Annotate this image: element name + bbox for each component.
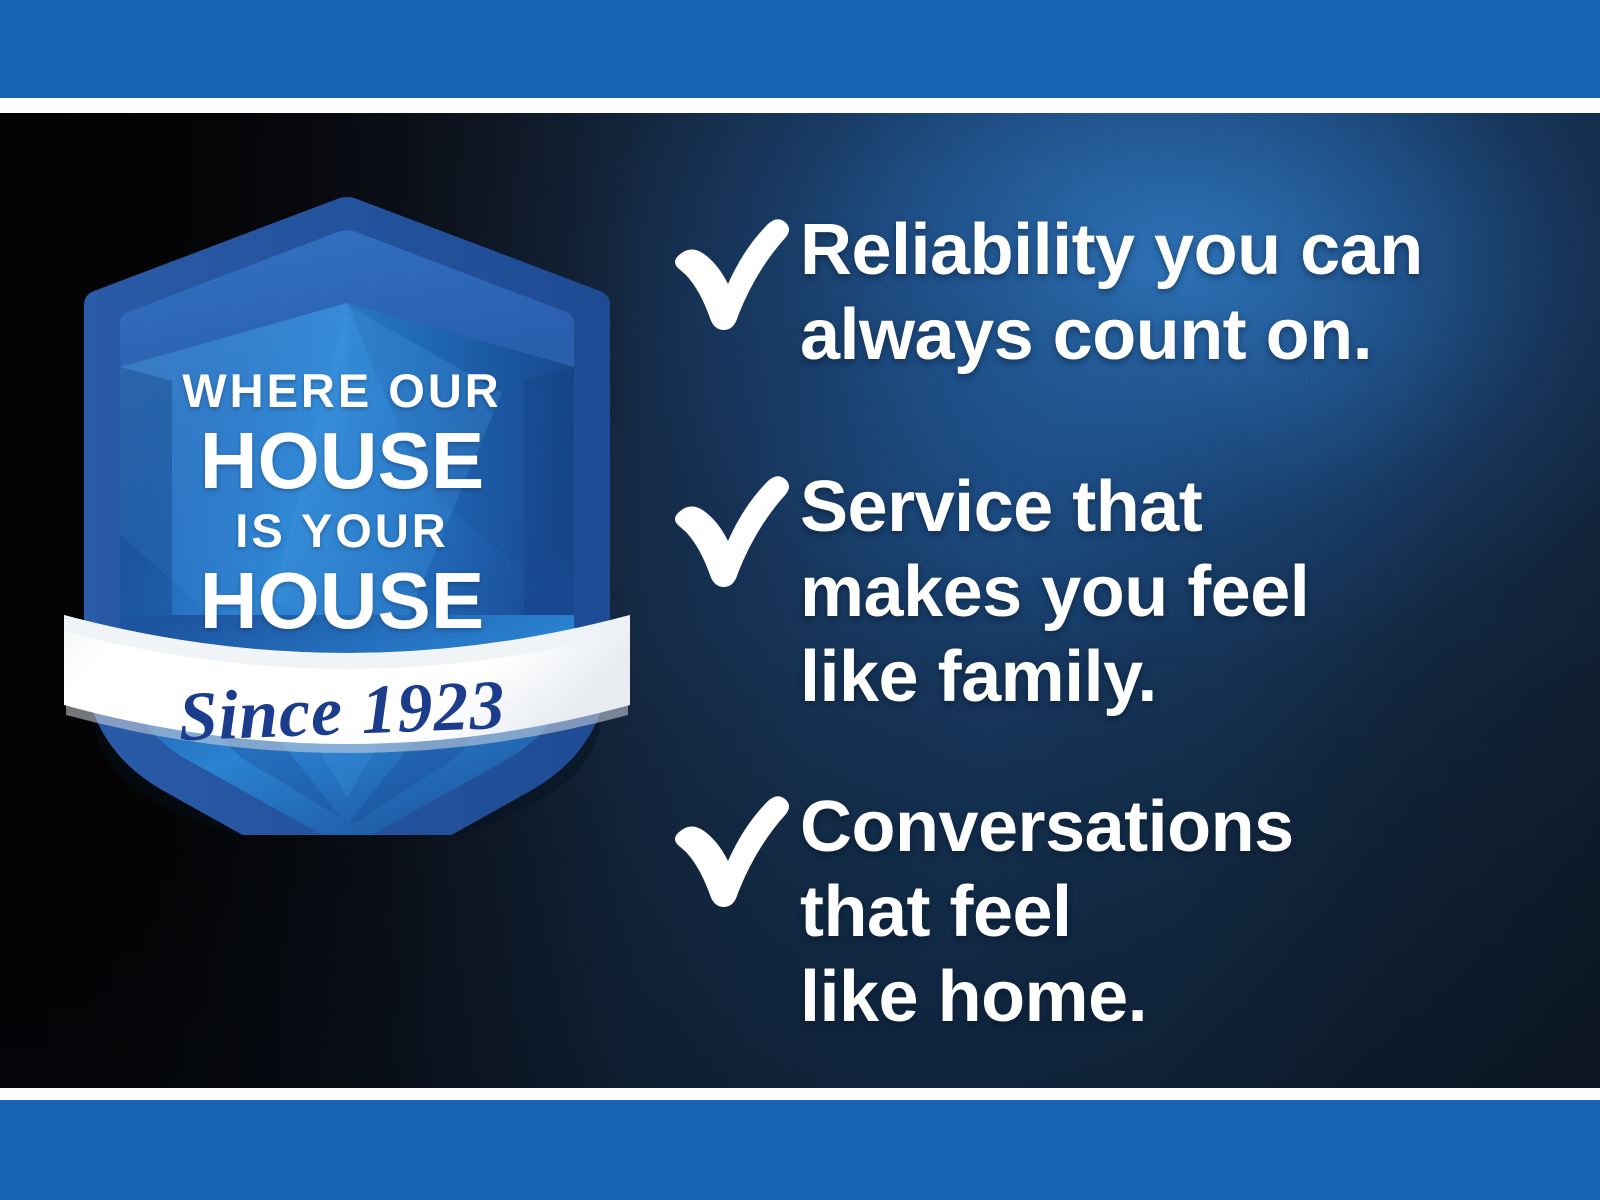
list-item-text: Service that makes you feel like family.	[800, 465, 1560, 720]
promo-banner: WHERE OUR HOUSE IS YOUR HOUSE Since 1923…	[0, 0, 1600, 1200]
list-item: Reliability you can always count on.	[660, 208, 1560, 378]
shield-badge-icon: WHERE OUR HOUSE IS YOUR HOUSE Since 1923	[62, 185, 632, 835]
benefits-list: Reliability you can always count on. Ser…	[660, 113, 1560, 1088]
checkmark-icon	[660, 785, 800, 911]
list-item-text: Conversations that feel like home.	[800, 785, 1560, 1040]
list-item-text: Reliability you can always count on.	[800, 208, 1560, 378]
checkmark-icon	[660, 465, 800, 591]
list-item: Service that makes you feel like family.	[660, 465, 1560, 720]
bottom-brand-bar	[0, 1100, 1600, 1200]
list-item: Conversations that feel like home.	[660, 785, 1560, 1040]
top-brand-bar	[0, 0, 1600, 98]
checkmark-icon	[660, 208, 800, 334]
